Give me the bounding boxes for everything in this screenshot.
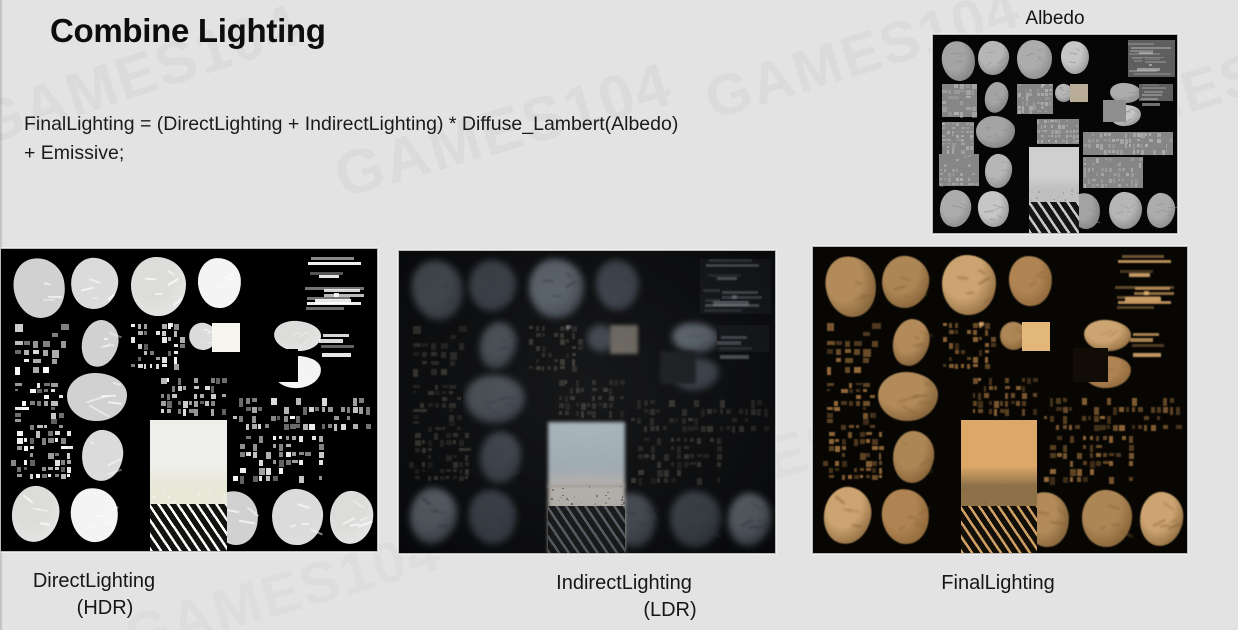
texture-fragment bbox=[259, 460, 262, 466]
texture-fragment bbox=[1077, 477, 1081, 482]
texture-fragment bbox=[1096, 144, 1100, 147]
texture-fragment bbox=[1037, 140, 1039, 144]
texture-fragment bbox=[1166, 144, 1168, 147]
texture-fragment bbox=[161, 394, 164, 399]
texture-fragment bbox=[33, 359, 41, 364]
texture-fragment bbox=[162, 495, 164, 497]
texture-fragment bbox=[150, 364, 153, 368]
texture-fragment bbox=[952, 169, 955, 172]
texture-fragment bbox=[24, 467, 28, 470]
texture-fragment bbox=[1116, 139, 1119, 142]
texture-fragment bbox=[1112, 150, 1114, 153]
texture-fragment bbox=[1139, 163, 1141, 168]
texture-fragment bbox=[1128, 43, 1153, 45]
texture-fragment bbox=[866, 468, 871, 472]
texture-fragment bbox=[252, 398, 257, 402]
texture-fragment bbox=[15, 419, 21, 422]
texture-fragment bbox=[1084, 168, 1087, 173]
panel-label-final-main: FinalLighting bbox=[941, 572, 1054, 594]
texture-fragment bbox=[1126, 407, 1130, 411]
texture-fragment bbox=[161, 409, 164, 413]
texture-fragment bbox=[150, 504, 227, 551]
texture-fragment bbox=[1094, 407, 1099, 415]
texture-fragment bbox=[306, 307, 344, 310]
texture-fragment bbox=[872, 461, 876, 466]
texture-fragment bbox=[164, 493, 166, 495]
texture-fragment bbox=[966, 84, 971, 87]
texture-fragment bbox=[870, 395, 875, 398]
texture-fragment bbox=[284, 424, 290, 430]
texture-fragment bbox=[1083, 436, 1086, 440]
texture-fragment bbox=[67, 431, 71, 436]
texture-fragment bbox=[1030, 199, 1032, 201]
texture-fragment bbox=[940, 169, 943, 172]
texture-fragment bbox=[1070, 84, 1088, 103]
texture-fragment bbox=[262, 349, 298, 382]
texture-fragment bbox=[258, 407, 262, 411]
texture-fragment bbox=[1109, 168, 1111, 172]
texture-fragment bbox=[130, 256, 185, 315]
texture-fragment bbox=[952, 146, 955, 149]
panel-label-indirect-sub: (LDR) bbox=[472, 597, 776, 624]
texture-fragment bbox=[1041, 125, 1043, 129]
texture-fragment bbox=[1077, 469, 1083, 476]
texture-fragment bbox=[334, 424, 337, 430]
texture-fragment bbox=[104, 338, 109, 340]
texture-fragment bbox=[1133, 144, 1135, 149]
texture-fragment bbox=[979, 322, 983, 326]
texture-fragment bbox=[30, 389, 37, 393]
texture-fragment bbox=[286, 436, 289, 440]
texture-fragment bbox=[311, 257, 353, 260]
texture-fragment bbox=[966, 123, 969, 126]
texture-fragment bbox=[51, 419, 57, 424]
texture-fragment bbox=[1084, 144, 1088, 146]
texture-fragment bbox=[328, 424, 332, 428]
texture-fragment bbox=[1048, 140, 1051, 143]
texture-fragment bbox=[842, 439, 847, 445]
texture-fragment bbox=[835, 439, 838, 443]
texture-fragment bbox=[312, 436, 316, 440]
texture-fragment bbox=[973, 393, 976, 398]
texture-fragment bbox=[872, 439, 878, 445]
texture-fragment bbox=[1026, 89, 1028, 93]
texture-fragment bbox=[1141, 144, 1143, 148]
texture-fragment bbox=[1100, 425, 1106, 430]
texture-fragment bbox=[856, 383, 862, 386]
texture-fragment bbox=[1142, 94, 1162, 96]
texture-fragment bbox=[1139, 52, 1152, 54]
texture-fragment bbox=[353, 398, 357, 406]
texture-fragment bbox=[866, 475, 870, 478]
texture-fragment bbox=[1057, 453, 1062, 457]
texture-fragment bbox=[172, 386, 175, 392]
texture-fragment bbox=[972, 112, 978, 117]
texture-fragment bbox=[17, 474, 21, 477]
texture-fragment bbox=[1137, 150, 1139, 153]
texture-fragment bbox=[829, 446, 834, 451]
texture-fragment bbox=[61, 438, 67, 444]
texture-fragment bbox=[994, 401, 999, 408]
texture-fragment bbox=[1142, 103, 1160, 106]
texture-fragment bbox=[239, 398, 242, 406]
texture-fragment bbox=[827, 407, 834, 410]
texture-fragment bbox=[266, 476, 270, 481]
texture-fragment bbox=[1066, 125, 1068, 127]
texture-fragment bbox=[1037, 110, 1041, 112]
texture-fragment bbox=[91, 296, 98, 299]
texture-fragment bbox=[168, 323, 173, 327]
texture-fragment bbox=[961, 139, 964, 142]
texture-fragment bbox=[189, 401, 192, 405]
texture-fragment bbox=[1144, 91, 1163, 93]
texture-fragment bbox=[55, 453, 59, 457]
texture-fragment bbox=[955, 364, 958, 369]
texture-fragment bbox=[59, 413, 64, 418]
texture-fragment bbox=[1096, 139, 1099, 142]
texture-fragment bbox=[947, 139, 951, 141]
texture-fragment bbox=[1041, 106, 1043, 109]
texture-fragment bbox=[952, 173, 955, 176]
texture-fragment bbox=[961, 131, 964, 134]
texture-fragment bbox=[359, 398, 364, 403]
texture-fragment bbox=[7, 482, 64, 546]
texture-fragment bbox=[1141, 133, 1145, 138]
texture-fragment bbox=[1162, 150, 1165, 155]
texture-fragment bbox=[1092, 179, 1096, 181]
texture-fragment bbox=[845, 341, 850, 347]
texture-fragment bbox=[1096, 158, 1099, 163]
texture-fragment bbox=[1125, 133, 1127, 138]
texture-fragment bbox=[1108, 192, 1143, 230]
texture-fragment bbox=[1041, 140, 1044, 143]
texture-fragment bbox=[1069, 425, 1072, 430]
texture-fragment bbox=[299, 436, 303, 443]
texture-fragment bbox=[1094, 416, 1098, 422]
texture-fragment bbox=[1142, 87, 1166, 89]
texture-fragment bbox=[989, 378, 992, 384]
texture-fragment bbox=[863, 358, 869, 364]
texture-fragment bbox=[1109, 477, 1114, 484]
texture-fragment bbox=[978, 401, 983, 408]
texture-fragment bbox=[1011, 401, 1015, 404]
texture-fragment bbox=[253, 444, 257, 451]
texture-fragment bbox=[303, 424, 308, 430]
texture-fragment bbox=[834, 401, 838, 406]
albedo-texture-atlas bbox=[932, 34, 1178, 234]
texture-fragment bbox=[949, 330, 954, 334]
texture-fragment bbox=[961, 135, 964, 137]
texture-fragment bbox=[960, 101, 963, 105]
texture-fragment bbox=[1022, 102, 1025, 105]
texture-fragment bbox=[180, 344, 185, 348]
texture-fragment bbox=[854, 341, 861, 346]
texture-fragment bbox=[1157, 416, 1160, 420]
texture-fragment bbox=[985, 330, 988, 336]
texture-fragment bbox=[239, 416, 243, 422]
texture-fragment bbox=[836, 358, 841, 362]
texture-fragment bbox=[1083, 461, 1087, 465]
texture-fragment bbox=[1005, 393, 1008, 398]
texture-fragment bbox=[955, 350, 959, 354]
texture-fragment bbox=[863, 413, 868, 419]
texture-fragment bbox=[973, 330, 977, 336]
texture-fragment bbox=[1033, 378, 1038, 382]
texture-fragment bbox=[1022, 401, 1026, 406]
panel-indirect-lighting: IndirectLighting (LDR) bbox=[398, 250, 776, 624]
texture-fragment bbox=[210, 496, 212, 498]
texture-fragment bbox=[966, 292, 974, 295]
texture-fragment bbox=[985, 357, 988, 363]
texture-fragment bbox=[1108, 133, 1111, 137]
texture-fragment bbox=[1129, 139, 1131, 144]
texture-fragment bbox=[849, 425, 855, 428]
texture-fragment bbox=[24, 460, 27, 465]
texture-fragment bbox=[194, 409, 198, 416]
texture-fragment bbox=[173, 501, 175, 503]
texture-fragment bbox=[1109, 436, 1113, 443]
texture-fragment bbox=[1041, 93, 1043, 96]
texture-fragment bbox=[15, 389, 18, 392]
texture-fragment bbox=[1045, 93, 1048, 96]
texture-fragment bbox=[1118, 260, 1171, 263]
texture-fragment bbox=[1151, 407, 1155, 413]
texture-fragment bbox=[1090, 469, 1094, 475]
texture-fragment bbox=[991, 337, 996, 343]
texture-fragment bbox=[292, 452, 296, 456]
texture-fragment bbox=[156, 331, 161, 336]
texture-fragment bbox=[961, 364, 964, 368]
texture-fragment bbox=[1137, 144, 1140, 147]
texture-fragment bbox=[948, 90, 951, 94]
texture-fragment bbox=[841, 401, 847, 405]
texture-fragment bbox=[1041, 102, 1044, 105]
texture-fragment bbox=[156, 364, 159, 369]
texture-fragment bbox=[1049, 102, 1051, 105]
texture-fragment bbox=[1084, 163, 1086, 165]
texture-fragment bbox=[67, 485, 121, 545]
texture-fragment bbox=[956, 178, 959, 181]
texture-fragment bbox=[1022, 106, 1024, 110]
texture-fragment bbox=[856, 395, 861, 399]
texture-fragment bbox=[1022, 97, 1025, 99]
panel-final-lighting: FinalLighting bbox=[812, 246, 1188, 597]
texture-fragment bbox=[827, 323, 834, 331]
texture-fragment bbox=[51, 401, 58, 406]
texture-fragment bbox=[942, 139, 946, 141]
texture-fragment bbox=[30, 438, 35, 444]
texture-fragment bbox=[174, 344, 179, 347]
texture-fragment bbox=[296, 424, 299, 428]
texture-fragment bbox=[870, 413, 875, 418]
texture-fragment bbox=[1090, 436, 1093, 439]
texture-fragment bbox=[44, 383, 50, 386]
texture-fragment bbox=[44, 401, 48, 406]
texture-fragment bbox=[131, 337, 135, 343]
texture-fragment bbox=[1101, 179, 1103, 183]
texture-fragment bbox=[1063, 477, 1068, 483]
texture-fragment bbox=[48, 474, 51, 477]
texture-fragment bbox=[168, 337, 171, 340]
texture-fragment bbox=[258, 424, 261, 429]
texture-fragment bbox=[36, 474, 41, 478]
texture-fragment bbox=[1131, 158, 1135, 162]
texture-fragment bbox=[347, 407, 351, 413]
texture-fragment bbox=[842, 446, 847, 450]
texture-fragment bbox=[820, 252, 882, 322]
texture-fragment bbox=[315, 407, 319, 411]
texture-fragment bbox=[956, 131, 958, 133]
texture-fragment bbox=[1129, 445, 1134, 451]
texture-fragment bbox=[15, 367, 19, 375]
texture-fragment bbox=[1167, 207, 1178, 208]
texture-fragment bbox=[1026, 97, 1029, 101]
texture-fragment bbox=[994, 502, 996, 504]
texture-fragment bbox=[1018, 106, 1021, 109]
texture-fragment bbox=[1092, 139, 1094, 142]
texture-fragment bbox=[194, 401, 197, 407]
texture-fragment bbox=[1170, 398, 1175, 403]
texture-fragment bbox=[180, 337, 185, 343]
texture-fragment bbox=[1044, 416, 1048, 420]
texture-fragment bbox=[823, 461, 828, 467]
texture-fragment bbox=[1096, 436, 1099, 440]
texture-fragment bbox=[1045, 97, 1048, 100]
texture-fragment bbox=[36, 431, 40, 437]
texture-fragment bbox=[1081, 489, 1134, 548]
texture-fragment bbox=[947, 131, 950, 134]
texture-fragment bbox=[1157, 407, 1161, 413]
texture-fragment bbox=[1033, 409, 1038, 415]
texture-fragment bbox=[167, 378, 170, 381]
texture-fragment bbox=[174, 324, 180, 330]
texture-fragment bbox=[42, 467, 45, 471]
texture-fragment bbox=[870, 425, 874, 428]
panel-direct-lighting: DirectLighting (HDR) bbox=[0, 248, 378, 622]
texture-fragment bbox=[1113, 425, 1118, 431]
texture-fragment bbox=[968, 164, 971, 168]
texture-fragment bbox=[1044, 477, 1049, 482]
texture-fragment bbox=[863, 389, 867, 392]
texture-fragment bbox=[972, 84, 977, 89]
texture-fragment bbox=[1073, 348, 1109, 382]
texture-fragment bbox=[150, 351, 154, 355]
texture-fragment bbox=[1005, 378, 1009, 382]
texture-fragment bbox=[240, 476, 245, 483]
texture-fragment bbox=[1108, 139, 1111, 143]
texture-fragment bbox=[1118, 184, 1121, 187]
texture-fragment bbox=[252, 407, 257, 413]
texture-fragment bbox=[845, 358, 853, 363]
texture-fragment bbox=[1141, 98, 1158, 100]
texture-fragment bbox=[863, 383, 870, 387]
texture-fragment bbox=[942, 143, 945, 145]
texture-fragment bbox=[1170, 139, 1173, 142]
texture-fragment bbox=[1073, 135, 1075, 139]
texture-fragment bbox=[1041, 135, 1044, 137]
texture-fragment bbox=[866, 432, 871, 436]
texture-fragment bbox=[138, 324, 142, 329]
texture-fragment bbox=[178, 378, 182, 384]
texture-fragment bbox=[1056, 407, 1062, 411]
texture-fragment bbox=[952, 143, 956, 146]
texture-fragment bbox=[949, 357, 953, 361]
texture-fragment bbox=[855, 297, 867, 300]
albedo-caption: Albedo bbox=[932, 8, 1178, 30]
texture-fragment bbox=[1051, 120, 1053, 122]
texture-fragment bbox=[835, 461, 838, 466]
texture-fragment bbox=[1083, 477, 1088, 481]
texture-fragment bbox=[1170, 407, 1173, 415]
texture-fragment bbox=[321, 345, 354, 348]
texture-fragment bbox=[1103, 453, 1107, 457]
texture-fragment bbox=[942, 107, 947, 112]
texture-fragment bbox=[319, 444, 324, 450]
texture-fragment bbox=[943, 364, 946, 367]
texture-fragment bbox=[1129, 461, 1134, 466]
texture-fragment bbox=[59, 395, 64, 398]
texture-fragment bbox=[290, 424, 296, 429]
texture-fragment bbox=[848, 475, 852, 479]
texture-fragment bbox=[849, 401, 853, 406]
texture-fragment bbox=[956, 123, 958, 127]
texture-fragment bbox=[970, 139, 973, 141]
texture-fragment bbox=[978, 393, 981, 400]
texture-fragment bbox=[1017, 40, 1053, 79]
texture-fragment bbox=[1050, 469, 1056, 474]
texture-fragment bbox=[1123, 97, 1127, 98]
texture-fragment bbox=[1125, 144, 1128, 148]
texture-fragment bbox=[319, 460, 324, 465]
texture-fragment bbox=[33, 341, 38, 347]
texture-fragment bbox=[827, 341, 835, 345]
texture-fragment bbox=[359, 407, 362, 415]
texture-fragment bbox=[1163, 407, 1167, 413]
texture-fragment bbox=[985, 364, 990, 370]
texture-fragment bbox=[308, 262, 361, 265]
texture-fragment bbox=[1022, 378, 1026, 382]
texture-fragment bbox=[138, 357, 142, 361]
texture-fragment bbox=[845, 349, 851, 353]
texture-fragment bbox=[223, 497, 225, 499]
texture-fragment bbox=[1104, 150, 1107, 155]
texture-fragment bbox=[303, 407, 307, 415]
texture-fragment bbox=[954, 90, 959, 94]
texture-fragment bbox=[860, 475, 863, 478]
texture-fragment bbox=[1000, 409, 1005, 413]
texture-fragment bbox=[1137, 139, 1140, 141]
texture-fragment bbox=[940, 173, 943, 175]
texture-fragment bbox=[841, 425, 845, 430]
texture-fragment bbox=[183, 409, 186, 416]
texture-fragment bbox=[1092, 133, 1094, 136]
texture-fragment bbox=[55, 467, 60, 470]
texture-fragment bbox=[353, 407, 357, 413]
texture-fragment bbox=[1107, 398, 1112, 405]
texture-fragment bbox=[955, 343, 959, 349]
albedo-block: Albedo bbox=[932, 8, 1178, 234]
texture-fragment bbox=[156, 357, 160, 360]
texture-fragment bbox=[1131, 173, 1134, 177]
texture-fragment bbox=[966, 131, 970, 134]
direct-lighting-texture-atlas bbox=[0, 248, 378, 552]
texture-fragment bbox=[209, 490, 211, 492]
texture-fragment bbox=[1029, 147, 1079, 190]
texture-fragment bbox=[211, 386, 215, 392]
texture-fragment bbox=[1051, 130, 1054, 135]
texture-fragment bbox=[240, 468, 246, 473]
texture-fragment bbox=[863, 349, 871, 357]
